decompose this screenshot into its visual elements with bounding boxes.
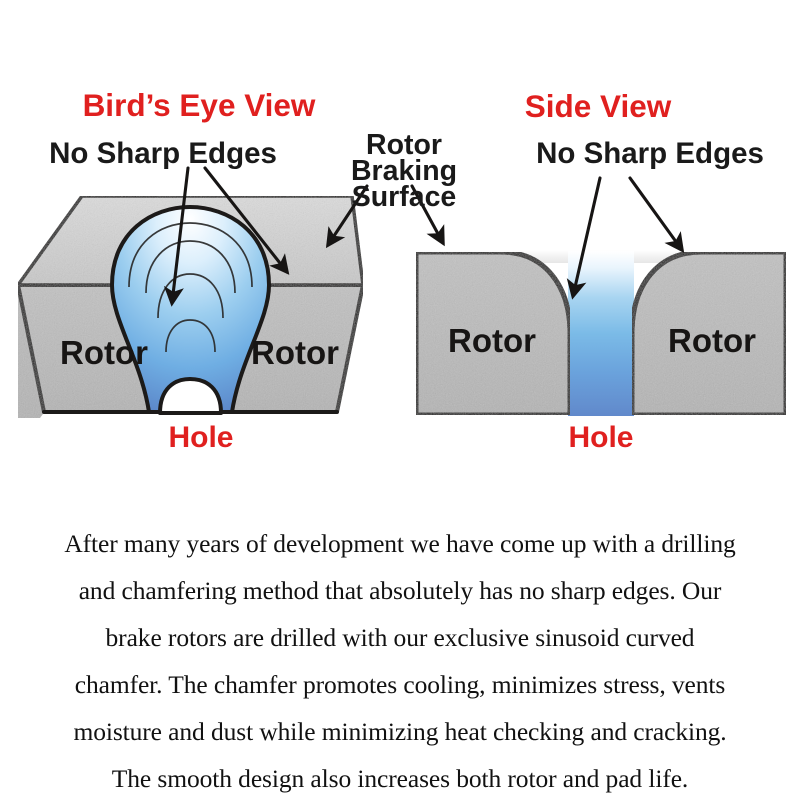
caption-line: moisture and dust while minimizing heat … (8, 708, 792, 755)
label-rotor-right-sideview: Rotor (668, 322, 756, 359)
caption-paragraph: After many years of development we have … (0, 520, 800, 802)
birds-eye-view-diagram (18, 196, 363, 418)
label-no-sharp-edges-left: No Sharp Edges (49, 137, 277, 170)
arrow-no-sharp-edges-right-rim (630, 178, 682, 250)
figure-svg: Bird’s Eye View Side View No Sharp Edges… (0, 0, 800, 500)
label-hole-left: Hole (168, 421, 233, 454)
birds-eye-view-title: Bird’s Eye View (83, 87, 316, 123)
label-rotor-left-birdseye: Rotor (60, 334, 148, 371)
label-rotor-braking-surface-line3: Surface (352, 181, 457, 213)
caption-line: After many years of development we have … (8, 520, 792, 567)
page-root: Bird’s Eye View Side View No Sharp Edges… (0, 0, 800, 800)
caption-line: brake rotors are drilled with our exclus… (8, 614, 792, 661)
label-rotor-left-sideview: Rotor (448, 322, 536, 359)
label-hole-right: Hole (568, 421, 633, 454)
caption-line: chamfer. The chamfer promotes cooling, m… (8, 661, 792, 708)
caption-line: and chamfering method that absolutely ha… (8, 567, 792, 614)
caption-line: The smooth design also increases both ro… (8, 755, 792, 802)
label-rotor-right-birdseye: Rotor (251, 334, 339, 371)
side-view-title: Side View (525, 88, 672, 124)
label-no-sharp-edges-right: No Sharp Edges (536, 137, 764, 170)
rotor-chamfer-figure: Bird’s Eye View Side View No Sharp Edges… (0, 0, 800, 500)
